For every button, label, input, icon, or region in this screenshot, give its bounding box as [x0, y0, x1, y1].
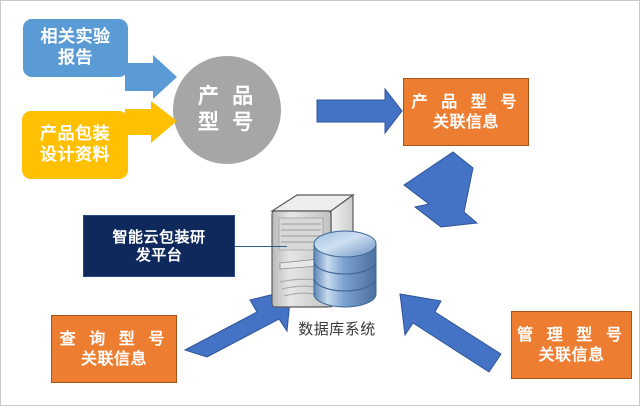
arrow-right-yellow-icon [125, 101, 177, 143]
product-model-circle[interactable]: 产 品 型 号 [173, 56, 281, 164]
orange-box-query-model-line1: 查 询 型 号 [60, 329, 169, 349]
server-tower-icon [272, 195, 353, 307]
source-box-experiment-report[interactable]: 相关实验 报告 [23, 19, 128, 77]
arrow-right-big-icon [317, 89, 402, 133]
orange-box-manage-model[interactable]: 管 理 型 号 关联信息 [511, 311, 632, 379]
diagram-canvas: 相关实验 报告 产品包装 设计资料 产 品 型 号 产 品 型 号 关联信息 查… [0, 0, 640, 406]
callout-leader-line [235, 246, 287, 247]
orange-box-manage-model-line1: 管 理 型 号 [517, 325, 626, 345]
arrow-down-left-icon [404, 152, 477, 227]
orange-box-model-info-line1: 产 品 型 号 [412, 92, 521, 112]
orange-box-query-model[interactable]: 查 询 型 号 关联信息 [51, 315, 177, 383]
source-box-package-design[interactable]: 产品包装 设计资料 [22, 111, 128, 179]
database-cylinder-icon [314, 231, 376, 307]
platform-callout-label[interactable]: 智能云包装研 发平台 [83, 215, 235, 277]
orange-box-query-model-line2: 关联信息 [81, 349, 147, 369]
arrow-up-left-icon [400, 294, 501, 372]
database-system-caption: 数据库系统 [277, 318, 397, 339]
arrow-up-right-icon [185, 290, 291, 357]
orange-box-manage-model-line2: 关联信息 [538, 345, 604, 365]
arrow-right-blue-icon [125, 55, 177, 99]
orange-box-model-info[interactable]: 产 品 型 号 关联信息 [403, 78, 529, 146]
orange-box-model-info-line2: 关联信息 [433, 112, 499, 132]
